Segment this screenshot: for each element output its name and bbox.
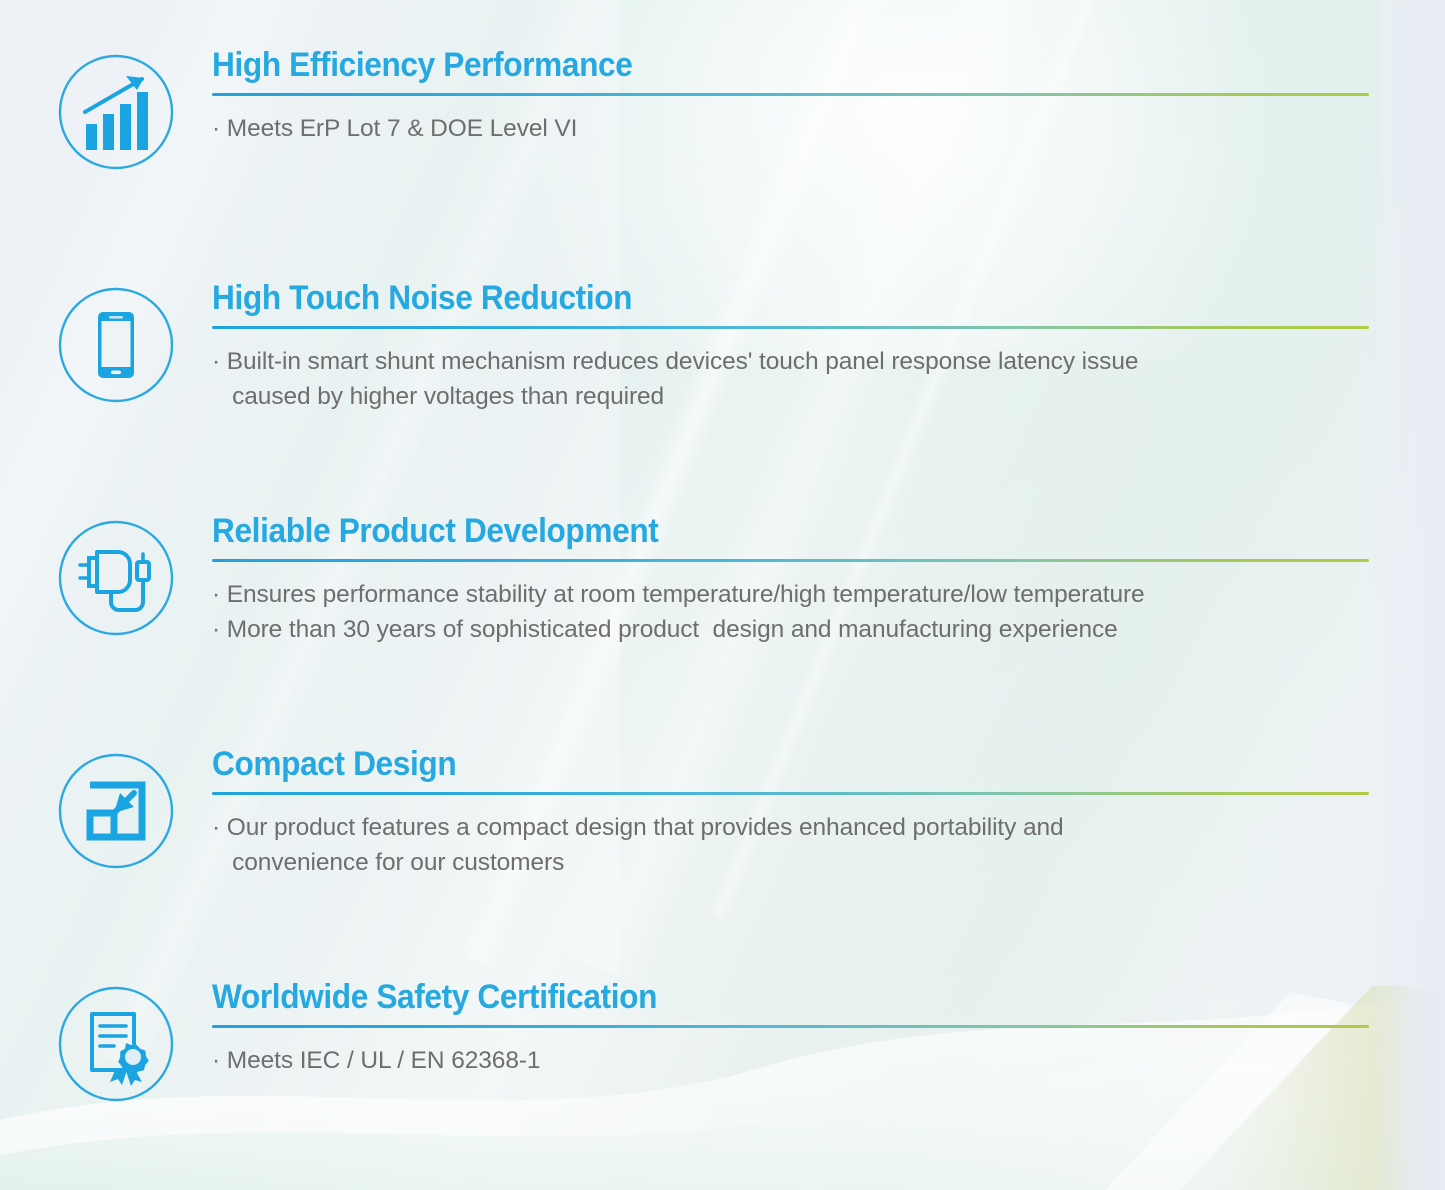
feature-bullets: · Ensures performance stability at room … [212, 578, 1382, 648]
feature-icon-wrapper [52, 281, 180, 405]
power-adapter-icon [56, 518, 176, 638]
feature-bullet: · Meets ErP Lot 7 & DOE Level VI [212, 112, 1382, 147]
feature-text: High Touch Noise Reduction · Built-in sm… [180, 281, 1382, 415]
feature-title: High Efficiency Performance [212, 48, 1300, 82]
feature-icon-wrapper [52, 514, 180, 638]
feature-title: Compact Design [212, 747, 1300, 781]
feature-text: Worldwide Safety Certification · Meets I… [180, 980, 1382, 1079]
feature-bullet: · Ensures performance stability at room … [212, 578, 1382, 613]
feature-text: High Efficiency Performance · Meets ErP … [180, 48, 1382, 147]
feature-item-compact-design: Compact Design · Our product features a … [52, 747, 1382, 881]
feature-bullet: · More than 30 years of sophisticated pr… [212, 613, 1382, 648]
feature-divider [212, 792, 1369, 795]
certificate-seal-icon [56, 984, 176, 1104]
feature-divider [212, 93, 1369, 96]
feature-icon-wrapper [52, 980, 180, 1104]
feature-bullets: · Meets IEC / UL / EN 62368-1 [212, 1044, 1382, 1079]
feature-divider [212, 326, 1369, 329]
compact-resize-icon [56, 751, 176, 871]
feature-title: Worldwide Safety Certification [212, 980, 1300, 1014]
feature-bullets: · Our product features a compact design … [212, 811, 1382, 881]
feature-text: Reliable Product Development · Ensures p… [180, 514, 1382, 648]
feature-item-reliable-product-development: Reliable Product Development · Ensures p… [52, 514, 1382, 648]
feature-item-high-touch-noise-reduction: High Touch Noise Reduction · Built-in sm… [52, 281, 1382, 415]
feature-title: High Touch Noise Reduction [212, 281, 1300, 315]
feature-item-worldwide-safety-certification: Worldwide Safety Certification · Meets I… [52, 980, 1382, 1104]
feature-bullets: · Built-in smart shunt mechanism reduces… [212, 345, 1382, 415]
bar-chart-growth-icon [56, 52, 176, 172]
smartphone-icon [56, 285, 176, 405]
feature-text: Compact Design · Our product features a … [180, 747, 1382, 881]
feature-bullet: · Built-in smart shunt mechanism reduces… [212, 345, 1382, 415]
feature-list: High Efficiency Performance · Meets ErP … [0, 0, 1445, 1190]
feature-bullet: · Meets IEC / UL / EN 62368-1 [212, 1044, 1382, 1079]
feature-icon-wrapper [52, 48, 180, 172]
feature-bullets: · Meets ErP Lot 7 & DOE Level VI [212, 112, 1382, 147]
feature-item-high-efficiency-performance: High Efficiency Performance · Meets ErP … [52, 48, 1382, 172]
feature-highlights-page: High Efficiency Performance · Meets ErP … [0, 0, 1445, 1190]
feature-title: Reliable Product Development [212, 514, 1300, 548]
feature-icon-wrapper [52, 747, 180, 871]
feature-bullet: · Our product features a compact design … [212, 811, 1382, 881]
feature-divider [212, 1025, 1369, 1028]
feature-divider [212, 559, 1369, 562]
